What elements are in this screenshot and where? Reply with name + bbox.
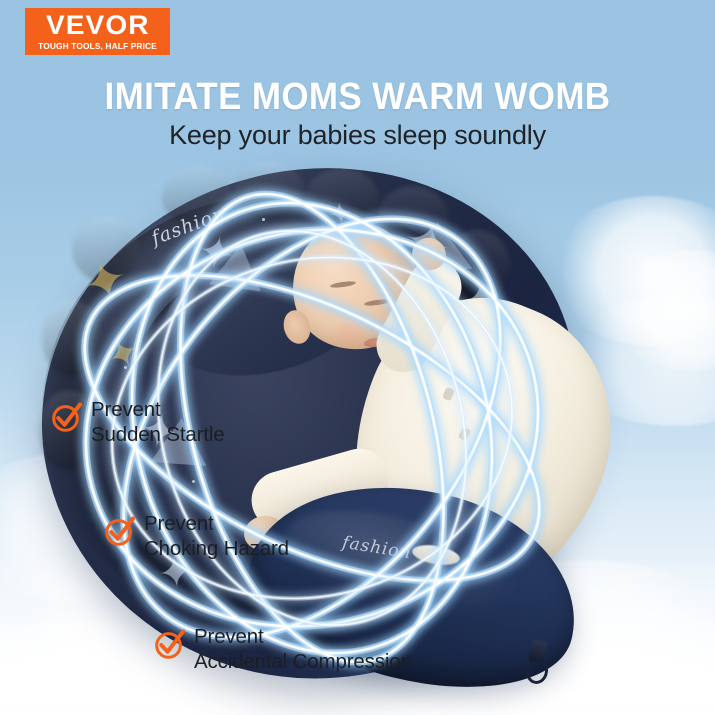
circle-check-icon bbox=[104, 516, 135, 547]
feature-text: Prevent Choking Hazard bbox=[144, 512, 289, 561]
feature-item-accidental-compression: Prevent Accidental Compression bbox=[154, 625, 412, 674]
logo-tagline: TOUGH TOOLS, HALF PRICE bbox=[38, 42, 157, 50]
page-subtitle: Keep your babies sleep soundly bbox=[0, 120, 715, 151]
feature-text: Prevent Accidental Compression bbox=[194, 625, 412, 674]
feature-line-2: Sudden Startle bbox=[91, 423, 225, 448]
feature-line-1: Prevent bbox=[91, 398, 161, 421]
circle-check-icon bbox=[51, 402, 82, 433]
product-banner: ✦ ✦ ✦ ✦ ✦ ✦ ✦ ✦ ✦ ✦ ✦ fashion bbox=[0, 0, 715, 715]
vevor-logo[interactable]: VEVOR TOUGH TOOLS, HALF PRICE bbox=[25, 8, 170, 55]
page-title: IMITATE MOMS WARM WOMB bbox=[29, 76, 687, 119]
feature-line-2: Choking Hazard bbox=[144, 537, 289, 562]
circle-check-icon bbox=[154, 629, 185, 660]
feature-item-choking-hazard: Prevent Choking Hazard bbox=[104, 512, 289, 561]
feature-line-2: Accidental Compression bbox=[194, 650, 412, 675]
feature-line-1: Prevent bbox=[194, 625, 264, 648]
feature-item-sudden-startle: Prevent Sudden Startle bbox=[51, 398, 225, 447]
feature-text: Prevent Sudden Startle bbox=[91, 398, 225, 447]
logo-wordmark: VEVOR bbox=[46, 12, 150, 39]
feature-line-1: Prevent bbox=[144, 512, 214, 535]
